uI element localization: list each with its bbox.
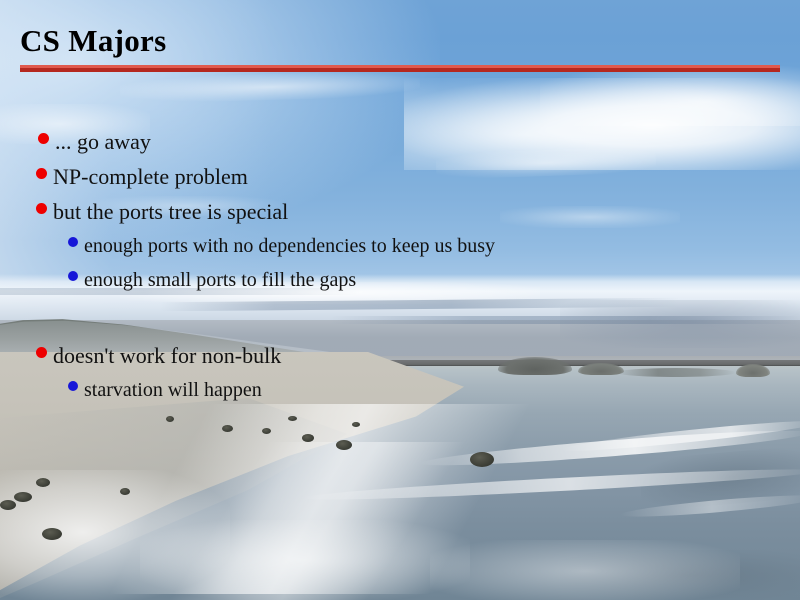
list-item: enough small ports to fill the gaps bbox=[68, 270, 356, 290]
list-item-label: but the ports tree is special bbox=[53, 201, 288, 223]
blue-dot-bullet-icon bbox=[68, 271, 78, 281]
list-item-label: enough small ports to fill the gaps bbox=[84, 270, 356, 290]
list-item: doesn't work for non-bulk bbox=[36, 345, 281, 367]
red-dot-bullet-icon bbox=[36, 203, 47, 214]
list-item-label: starvation will happen bbox=[84, 380, 262, 400]
list-item-label: ... go away bbox=[55, 131, 151, 153]
list-item-label: enough ports with no dependencies to kee… bbox=[84, 236, 495, 256]
red-dot-bullet-icon bbox=[38, 133, 49, 144]
red-dot-bullet-icon bbox=[36, 168, 47, 179]
slide-body: ... go away NP-complete problem but the … bbox=[0, 0, 800, 600]
list-item: but the ports tree is special bbox=[36, 201, 288, 223]
list-item: starvation will happen bbox=[68, 380, 262, 400]
list-item: enough ports with no dependencies to kee… bbox=[68, 236, 495, 256]
list-item-label: NP-complete problem bbox=[53, 166, 248, 188]
blue-dot-bullet-icon bbox=[68, 381, 78, 391]
presentation-slide: CS Majors ... go away NP-complete proble… bbox=[0, 0, 800, 600]
blue-dot-bullet-icon bbox=[68, 237, 78, 247]
red-dot-bullet-icon bbox=[36, 347, 47, 358]
list-item: NP-complete problem bbox=[36, 166, 248, 188]
list-item-label: doesn't work for non-bulk bbox=[53, 345, 281, 367]
list-item: ... go away bbox=[38, 131, 151, 153]
